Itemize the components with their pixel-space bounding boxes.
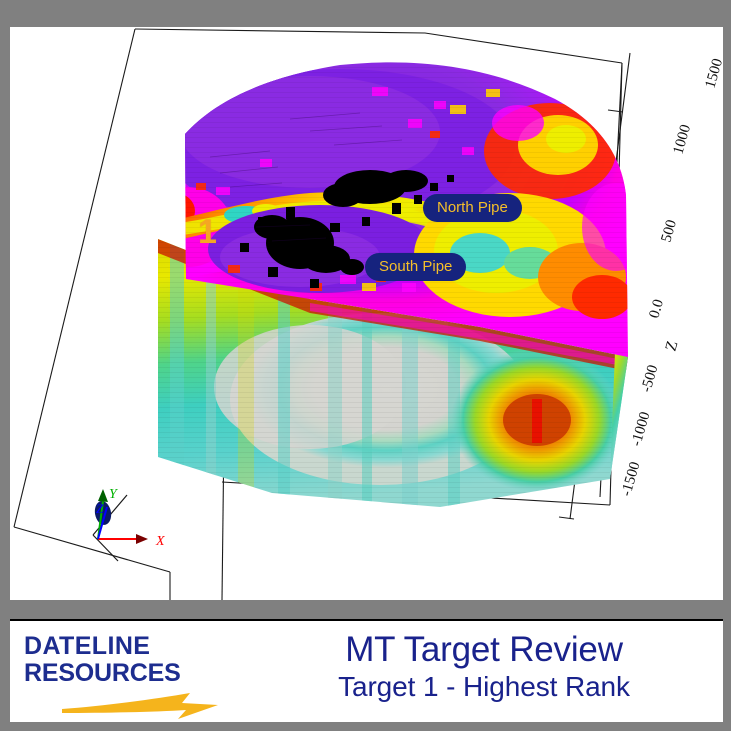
- company-logo[interactable]: DATELINE RESOURCES: [24, 633, 254, 713]
- axis-triad: X Y Z: [93, 487, 165, 561]
- logo-line-1: DATELINE: [24, 633, 254, 660]
- triad-x-label: X: [155, 534, 165, 549]
- slide-root: 1500 1000 500 0.0 -500 -1000 -1500 Z: [0, 0, 731, 731]
- z-tick-6: -1500: [618, 460, 643, 498]
- z-tick-0: 1500: [702, 57, 723, 90]
- right-arrow-icon: [60, 689, 230, 723]
- z-tick-3: 0.0: [646, 298, 667, 320]
- 3d-model-viewport[interactable]: 1500 1000 500 0.0 -500 -1000 -1500 Z: [10, 27, 723, 600]
- z-tick-5: -1000: [628, 410, 653, 448]
- annotation-north-pipe[interactable]: North Pipe: [423, 194, 522, 222]
- target-number-label: 1: [198, 213, 217, 252]
- slide-title-block: MT Target Review Target 1 - Highest Rank: [260, 629, 708, 704]
- triad-y-label: Y: [109, 487, 119, 502]
- z-tick-4: -500: [638, 363, 661, 394]
- footer-bar: DATELINE RESOURCES MT Target Review Targ…: [10, 621, 723, 722]
- 3d-scene-svg: 1500 1000 500 0.0 -500 -1000 -1500 Z: [10, 27, 723, 600]
- slide-subtitle: Target 1 - Highest Rank: [260, 670, 708, 704]
- logo-line-2: RESOURCES: [24, 660, 254, 687]
- slide-title: MT Target Review: [260, 629, 708, 670]
- triad-z-label: Z: [96, 501, 104, 516]
- z-tick-2: 500: [658, 218, 680, 244]
- z-tick-1: 1000: [670, 123, 694, 156]
- z-axis-title: Z: [663, 339, 682, 353]
- annotation-south-pipe[interactable]: South Pipe: [365, 253, 466, 281]
- divider-band: [10, 600, 723, 621]
